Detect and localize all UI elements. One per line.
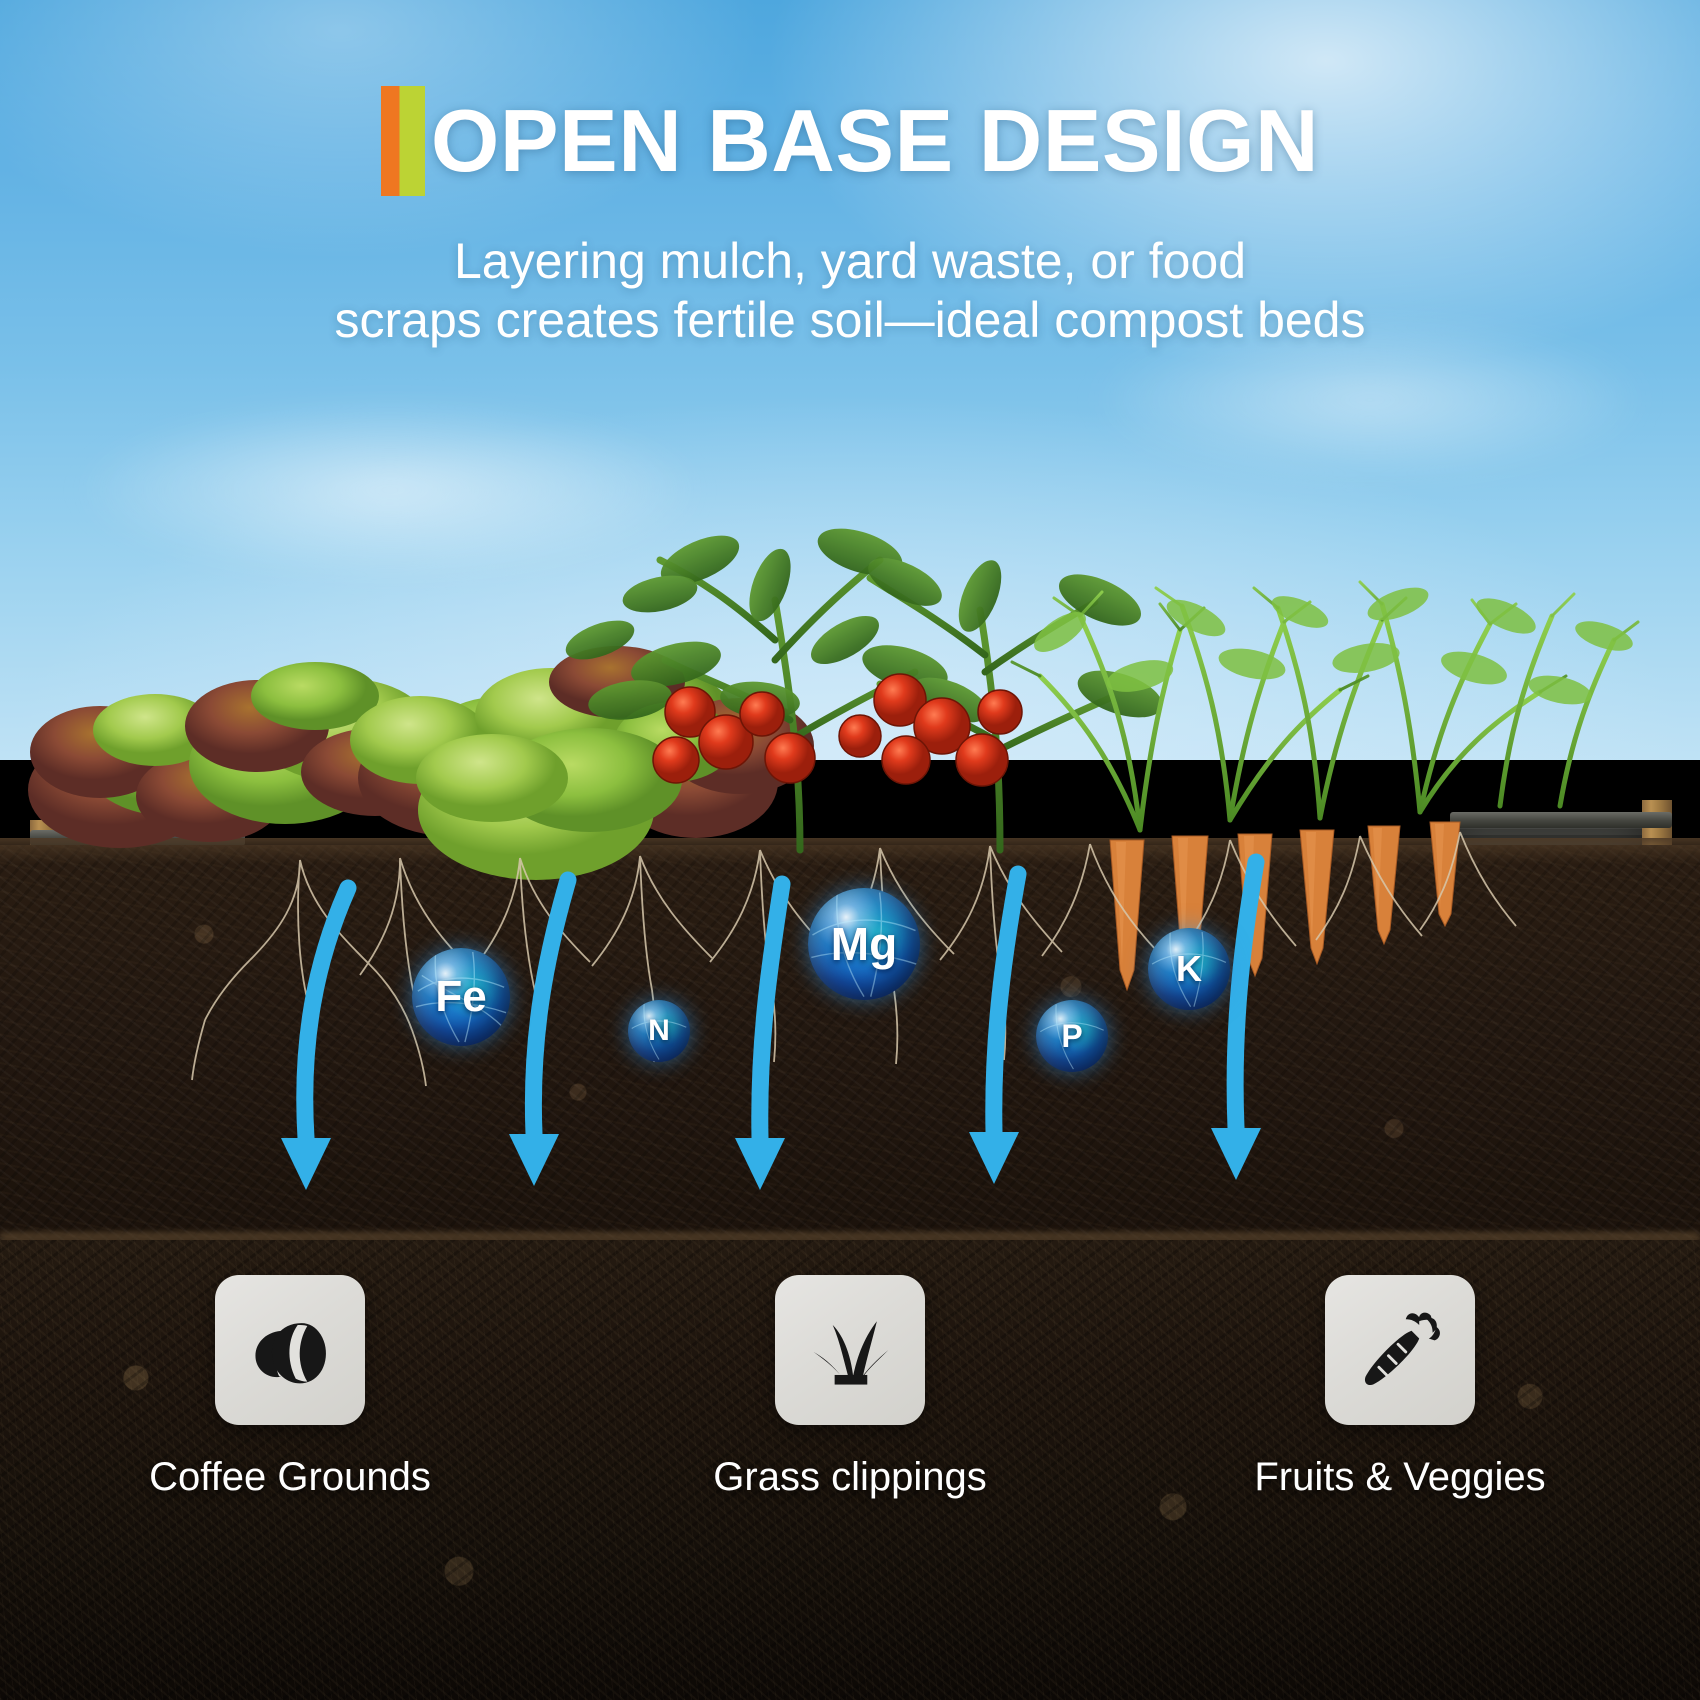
nutrient-label: P: [1061, 1018, 1082, 1055]
feature-item-fruits-veggies[interactable]: Fruits & Veggies: [1210, 1275, 1590, 1500]
soil-surface-line: [0, 838, 1700, 864]
subtitle-block: Layering mulch, yard waste, or food scra…: [0, 232, 1700, 350]
coffee-beans-icon: [242, 1302, 338, 1398]
infographic-canvas: OPEN BASE DESIGN Layering mulch, yard wa…: [0, 0, 1700, 1700]
title-block: OPEN BASE DESIGN: [0, 86, 1700, 201]
nutrient-label: Mg: [831, 917, 897, 971]
nutrient-bubble-n[interactable]: N: [628, 1000, 690, 1062]
nutrient-label: N: [648, 1014, 670, 1048]
subtitle-line-1: Layering mulch, yard waste, or food: [0, 232, 1700, 291]
nutrient-label: K: [1176, 948, 1202, 990]
feature-icon-box: [215, 1275, 365, 1425]
planter-top-rail-right: [1450, 812, 1672, 828]
carrot-icon: [1352, 1302, 1448, 1398]
feature-label: Coffee Grounds: [100, 1455, 480, 1500]
nutrient-label: Fe: [435, 972, 486, 1022]
subtitle-line-2: scraps creates fertile soil—ideal compos…: [0, 291, 1700, 350]
feature-label: Grass clippings: [660, 1455, 1040, 1500]
feature-label: Fruits & Veggies: [1210, 1455, 1590, 1500]
page-title: OPEN BASE DESIGN: [431, 97, 1319, 185]
feature-item-coffee-grounds[interactable]: Coffee Grounds: [100, 1275, 480, 1500]
feature-item-grass-clippings[interactable]: Grass clippings: [660, 1275, 1040, 1500]
title-accent-bar: [381, 86, 425, 196]
feature-icon-box: [775, 1275, 925, 1425]
nutrient-bubble-p[interactable]: P: [1036, 1000, 1108, 1072]
nutrient-bubble-mg[interactable]: Mg: [808, 888, 920, 1000]
nutrient-bubble-k[interactable]: K: [1148, 928, 1230, 1010]
cloud-left: [0, 330, 840, 650]
grass-tuft-icon: [802, 1302, 898, 1398]
feature-icon-box: [1325, 1275, 1475, 1425]
feature-row: Coffee Grounds Grass clippings: [0, 1275, 1700, 1575]
nutrient-bubble-fe[interactable]: Fe: [412, 948, 510, 1046]
